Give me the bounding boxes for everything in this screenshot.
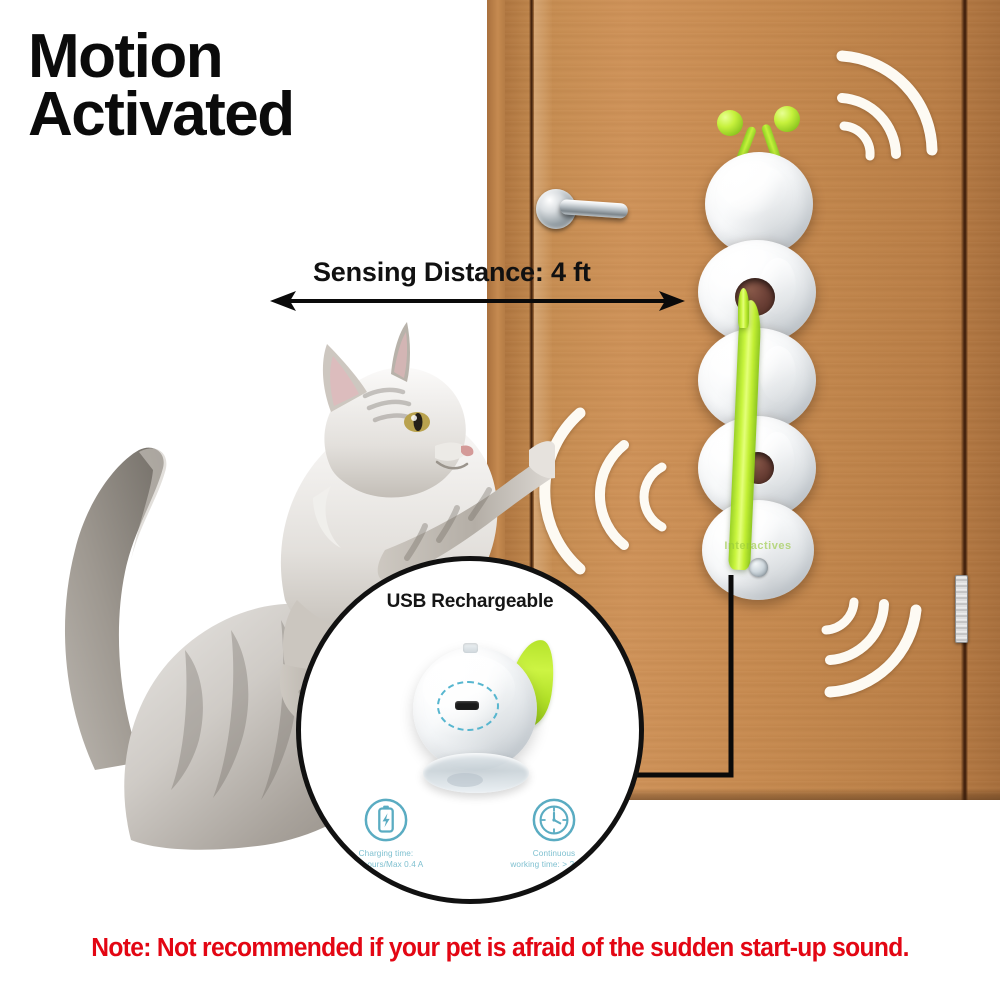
suction-cup-base: [423, 753, 529, 793]
caterpillar-toy[interactable]: Interactives: [688, 100, 828, 600]
usb-rechargeable-callout: USB Rechargeable Charging time: 2.5 hour…: [296, 556, 644, 904]
double-headed-arrow-icon: [270, 288, 685, 314]
spec-charging: Charging time: 2.5 hours/Max 0.4 A: [328, 797, 444, 871]
suction-cup-inner: [447, 773, 483, 787]
toy-brand-label: Interactives: [688, 540, 828, 552]
toy-feather-tip: [738, 288, 749, 328]
ball-device-top-notch: [463, 643, 478, 653]
warning-note: Note: Not recommended if your pet is afr…: [18, 934, 983, 963]
motion-sensor-icon: [749, 558, 768, 577]
antenna-ball-left: [717, 110, 743, 136]
sound-wave-top-right: [828, 38, 988, 188]
antenna-ball-right: [774, 106, 800, 132]
micro-usb-port-icon: [455, 701, 479, 710]
battery-charging-icon: [363, 797, 409, 843]
inset-title: USB Rechargeable: [301, 591, 639, 613]
clock-icon: [531, 797, 577, 843]
spec-charging-text: Charging time: 2.5 hours/Max 0.4 A: [349, 849, 424, 871]
spec-working-time: Continuous working time: > 2 hours: [496, 797, 612, 871]
spec-row: Charging time: 2.5 hours/Max 0.4 A: [301, 797, 639, 871]
spec-working-time-text: Continuous working time: > 2 hours: [510, 849, 597, 871]
door-lever-handle-icon: [536, 185, 628, 233]
page-title: Motion Activated: [28, 28, 294, 143]
sound-wave-left: [536, 405, 706, 575]
sensing-distance-label: Sensing Distance: 4 ft: [313, 257, 591, 288]
product-marketing-image: Interactives: [0, 0, 1000, 982]
usb-rechargeable-ball-device: [397, 633, 557, 803]
sound-wave-bottom-right: [812, 600, 972, 730]
